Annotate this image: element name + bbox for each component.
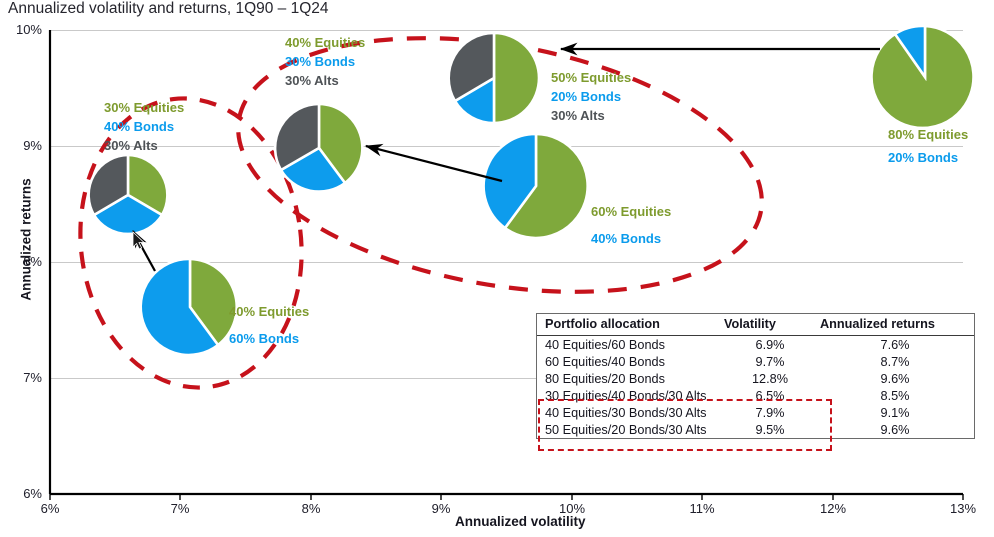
cell-volatility: 6.9% — [724, 336, 820, 354]
x-axis-title: Annualized volatility — [455, 514, 586, 529]
y-axis-title: Annualized returns — [19, 160, 34, 320]
arrow-to-40-30-30 — [366, 146, 502, 181]
table-header-row: Portfolio allocation Volatility Annualiz… — [537, 314, 974, 336]
x-tick-11: 11% — [672, 501, 732, 516]
label-equities: 80% Equities — [888, 123, 968, 146]
x-tick-12: 12% — [803, 501, 863, 516]
cell-allocation: 50 Equities/20 Bonds/30 Alts — [537, 421, 724, 438]
cell-allocation: 80 Equities/20 Bonds — [537, 370, 724, 387]
cell-returns: 9.6% — [820, 421, 974, 438]
th-portfolio-allocation: Portfolio allocation — [537, 314, 724, 336]
label-equities: 40% Equities — [285, 33, 365, 52]
y-tick-7: 7% — [0, 370, 42, 385]
cell-allocation: 40 Equities/30 Bonds/30 Alts — [537, 404, 724, 421]
cell-returns: 9.6% — [820, 370, 974, 387]
chart-canvas — [0, 0, 994, 537]
pie-label-40-60: 40% Equities 60% Bonds — [229, 298, 309, 352]
label-equities: 50% Equities — [551, 68, 631, 87]
cell-volatility: 9.5% — [724, 421, 820, 438]
x-tick-8: 8% — [281, 501, 341, 516]
pie-50-20-30 — [449, 33, 539, 123]
label-alts: 30% Alts — [285, 71, 365, 90]
label-equities: 60% Equities — [591, 198, 671, 225]
th-annualized-returns: Annualized returns — [820, 314, 974, 336]
label-equities: 40% Equities — [229, 298, 309, 325]
label-alts: 30% Alts — [104, 136, 184, 155]
pie-40-30-30 — [275, 104, 362, 192]
pie-label-30-40-30: 30% Equities 40% Bonds 30% Alts — [104, 98, 184, 155]
cell-volatility: 7.9% — [724, 404, 820, 421]
table-row: 40 Equities/30 Bonds/30 Alts 7.9% 9.1% — [537, 404, 974, 421]
label-alts: 30% Alts — [551, 106, 631, 125]
y-tick-6: 6% — [0, 486, 42, 501]
pie-label-40-30-30: 40% Equities 30% Bonds 30% Alts — [285, 33, 365, 90]
pie-60-40 — [484, 134, 588, 238]
pie-40-60 — [141, 259, 237, 355]
label-bonds: 40% Bonds — [591, 225, 671, 252]
label-bonds: 20% Bonds — [551, 87, 631, 106]
cell-volatility: 6.5% — [724, 387, 820, 404]
y-tick-9: 9% — [0, 138, 42, 153]
chart-root: Annualized volatility and returns, 1Q90 … — [0, 0, 994, 537]
x-tick-7: 7% — [150, 501, 210, 516]
table-row: 50 Equities/20 Bonds/30 Alts 9.5% 9.6% — [537, 421, 974, 438]
th-volatility: Volatility — [724, 314, 820, 336]
label-bonds: 60% Bonds — [229, 325, 309, 352]
label-bonds: 30% Bonds — [285, 52, 365, 71]
cell-returns: 9.1% — [820, 404, 974, 421]
pie-30-40-30 — [89, 155, 168, 234]
y-tick-10: 10% — [0, 22, 42, 37]
x-tick-6: 6% — [20, 501, 80, 516]
table-row: 40 Equities/60 Bonds 6.9% 7.6% — [537, 336, 974, 354]
pie-label-50-20-30: 50% Equities 20% Bonds 30% Alts — [551, 68, 631, 125]
label-bonds: 20% Bonds — [888, 146, 968, 169]
cell-returns: 8.5% — [820, 387, 974, 404]
cell-allocation: 60 Equities/40 Bonds — [537, 353, 724, 370]
table-row: 60 Equities/40 Bonds 9.7% 8.7% — [537, 353, 974, 370]
label-equities: 30% Equities — [104, 98, 184, 117]
label-bonds: 40% Bonds — [104, 117, 184, 136]
cell-allocation: 40 Equities/60 Bonds — [537, 336, 724, 354]
cell-volatility: 12.8% — [724, 370, 820, 387]
table-row: 80 Equities/20 Bonds 12.8% 9.6% — [537, 370, 974, 387]
cell-allocation: 30 Equities/40 Bonds/30 Alts — [537, 387, 724, 404]
allocation-table: Portfolio allocation Volatility Annualiz… — [536, 313, 975, 439]
cell-returns: 7.6% — [820, 336, 974, 354]
pie-80-20 — [872, 26, 974, 128]
cell-volatility: 9.7% — [724, 353, 820, 370]
x-tick-13: 13% — [933, 501, 993, 516]
cell-returns: 8.7% — [820, 353, 974, 370]
table-row: 30 Equities/40 Bonds/30 Alts 6.5% 8.5% — [537, 387, 974, 404]
pie-label-80-20: 80% Equities 20% Bonds — [888, 123, 968, 169]
pie-label-60-40: 60% Equities 40% Bonds — [591, 198, 671, 252]
